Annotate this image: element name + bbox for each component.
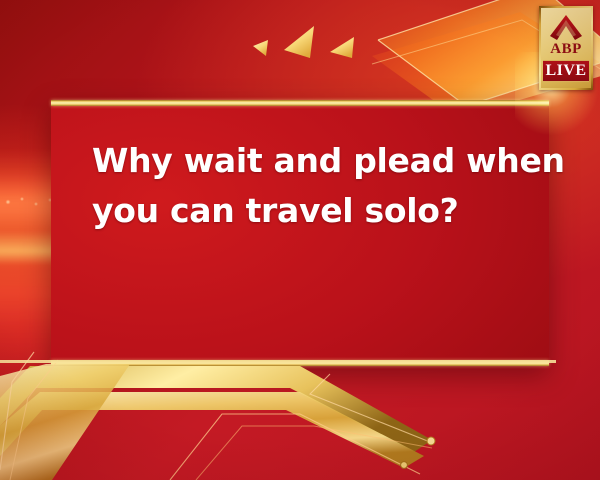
vignette-overlay: [0, 0, 600, 480]
news-card-graphic: Why wait and plead when you can travel s…: [0, 0, 600, 480]
